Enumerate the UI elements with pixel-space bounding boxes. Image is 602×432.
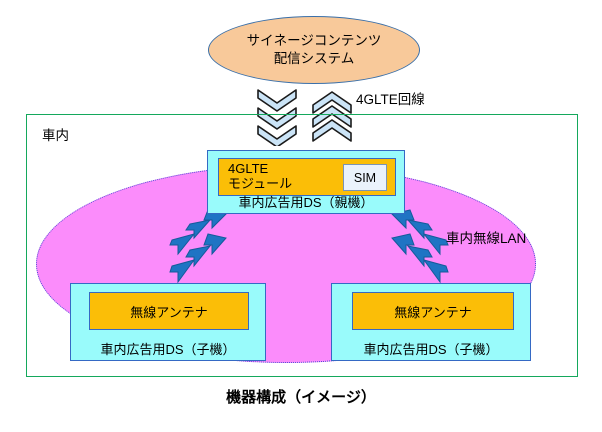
device-child-left-caption: 車内広告用DS（子機） (71, 339, 265, 358)
wan-link-label: 4GLTE回線 (356, 88, 425, 108)
lte-module-label: 4GLTE モジュール (228, 162, 292, 192)
device-child-ds-right: 無線アンテナ 車内広告用DS（子機） (331, 283, 531, 361)
signage-system-node: サイネージコンテンツ 配信システム (208, 16, 420, 84)
device-parent-ds: 4GLTE モジュール SIM 車内広告用DS（親機） (207, 150, 405, 214)
wireless-antenna-right: 無線アンテナ (352, 292, 514, 330)
lte-module-label-line1: 4GLTE (228, 162, 292, 177)
figure-caption: 機器構成（イメージ） (0, 386, 602, 407)
diagram-canvas: サイネージコンテンツ 配信システム 4GLTE回線 車内 (0, 0, 602, 432)
sim-card: SIM (343, 164, 387, 191)
wireless-signal-icon-left (168, 208, 230, 286)
signage-system-label-line1: サイネージコンテンツ (247, 32, 382, 50)
device-child-ds-left: 無線アンテナ 車内広告用DS（子機） (70, 283, 266, 361)
wireless-signal-icon-right (388, 208, 450, 286)
wireless-antenna-left: 無線アンテナ (89, 292, 249, 330)
device-parent-caption: 車内広告用DS（親機） (208, 192, 404, 211)
wlan-label: 車内無線LAN (446, 227, 526, 247)
vehicle-boundary-label: 車内 (42, 124, 69, 144)
device-child-right-caption: 車内広告用DS（子機） (332, 339, 530, 358)
signage-system-label-line2: 配信システム (274, 50, 355, 68)
lte-module: 4GLTE モジュール SIM (218, 158, 396, 196)
lte-module-label-line2: モジュール (228, 177, 292, 192)
